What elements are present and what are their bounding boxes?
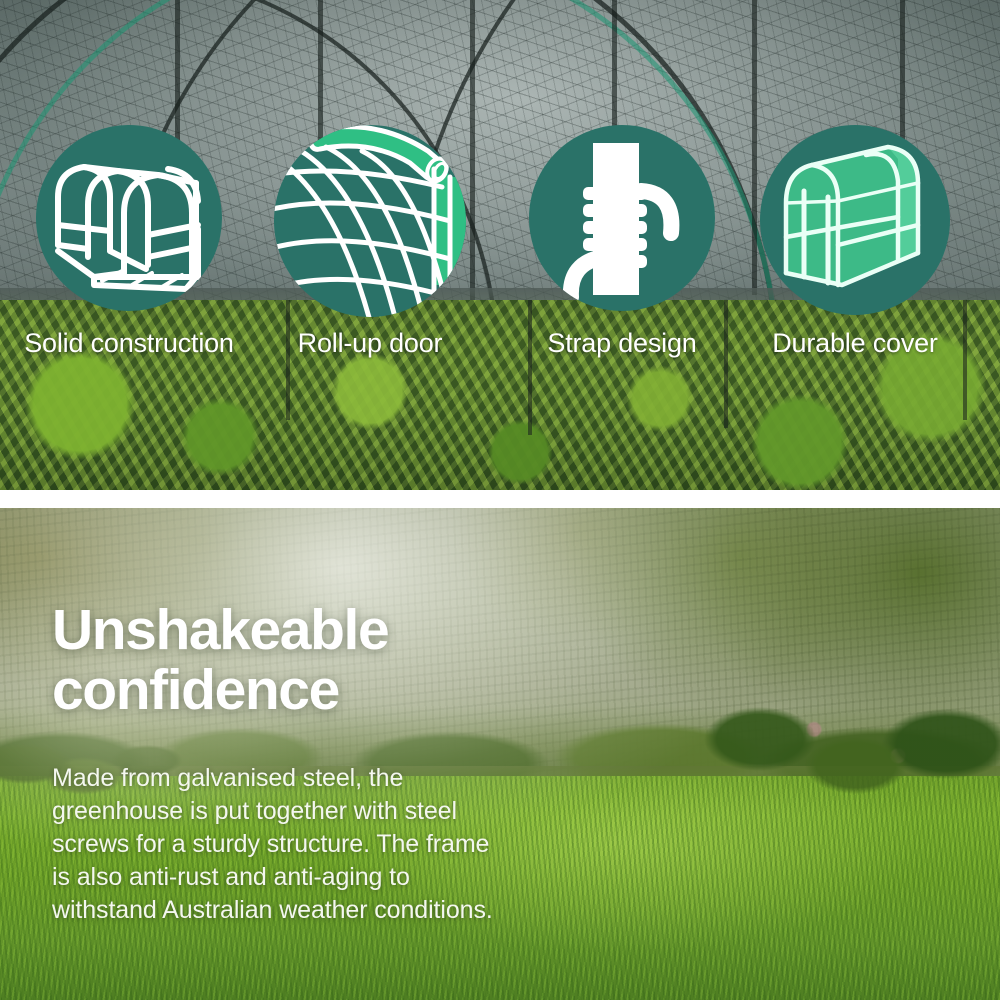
feature-circle	[274, 125, 466, 317]
feature-row: Solid construction	[0, 125, 1000, 415]
bottom-panel: Unshakeable confidence Made from galvani…	[0, 508, 1000, 1000]
roll-up-door-icon	[274, 125, 466, 317]
feature-label: Durable cover	[730, 328, 980, 359]
feature-label: Roll-up door	[245, 328, 495, 359]
feature-item-strap-design: Strap design	[497, 125, 747, 415]
headline-line-1: Unshakeable	[52, 600, 522, 660]
feature-label: Strap design	[497, 328, 747, 359]
feature-label: Solid construction	[4, 328, 254, 359]
section-divider	[0, 490, 1000, 508]
greenhouse-frame-icon	[36, 125, 222, 311]
greenhouse-cover-icon	[760, 125, 950, 315]
body-paragraph: Made from galvanised steel, the greenhou…	[52, 762, 502, 927]
feature-item-durable-cover: Durable cover	[730, 125, 980, 415]
feature-circle	[529, 125, 715, 311]
feature-circle	[36, 125, 222, 311]
feature-item-solid-construction: Solid construction	[4, 125, 254, 415]
strap-clamp-icon	[529, 125, 715, 311]
feature-circle	[760, 125, 950, 315]
page-title: Unshakeable confidence	[52, 600, 522, 721]
garden-shrubs-right	[700, 703, 1000, 823]
marketing-panel: Solid construction	[0, 0, 1000, 1000]
top-panel: Solid construction	[0, 0, 1000, 490]
feature-item-roll-up-door: Roll-up door	[245, 125, 495, 415]
headline-line-2: confidence	[52, 660, 522, 720]
